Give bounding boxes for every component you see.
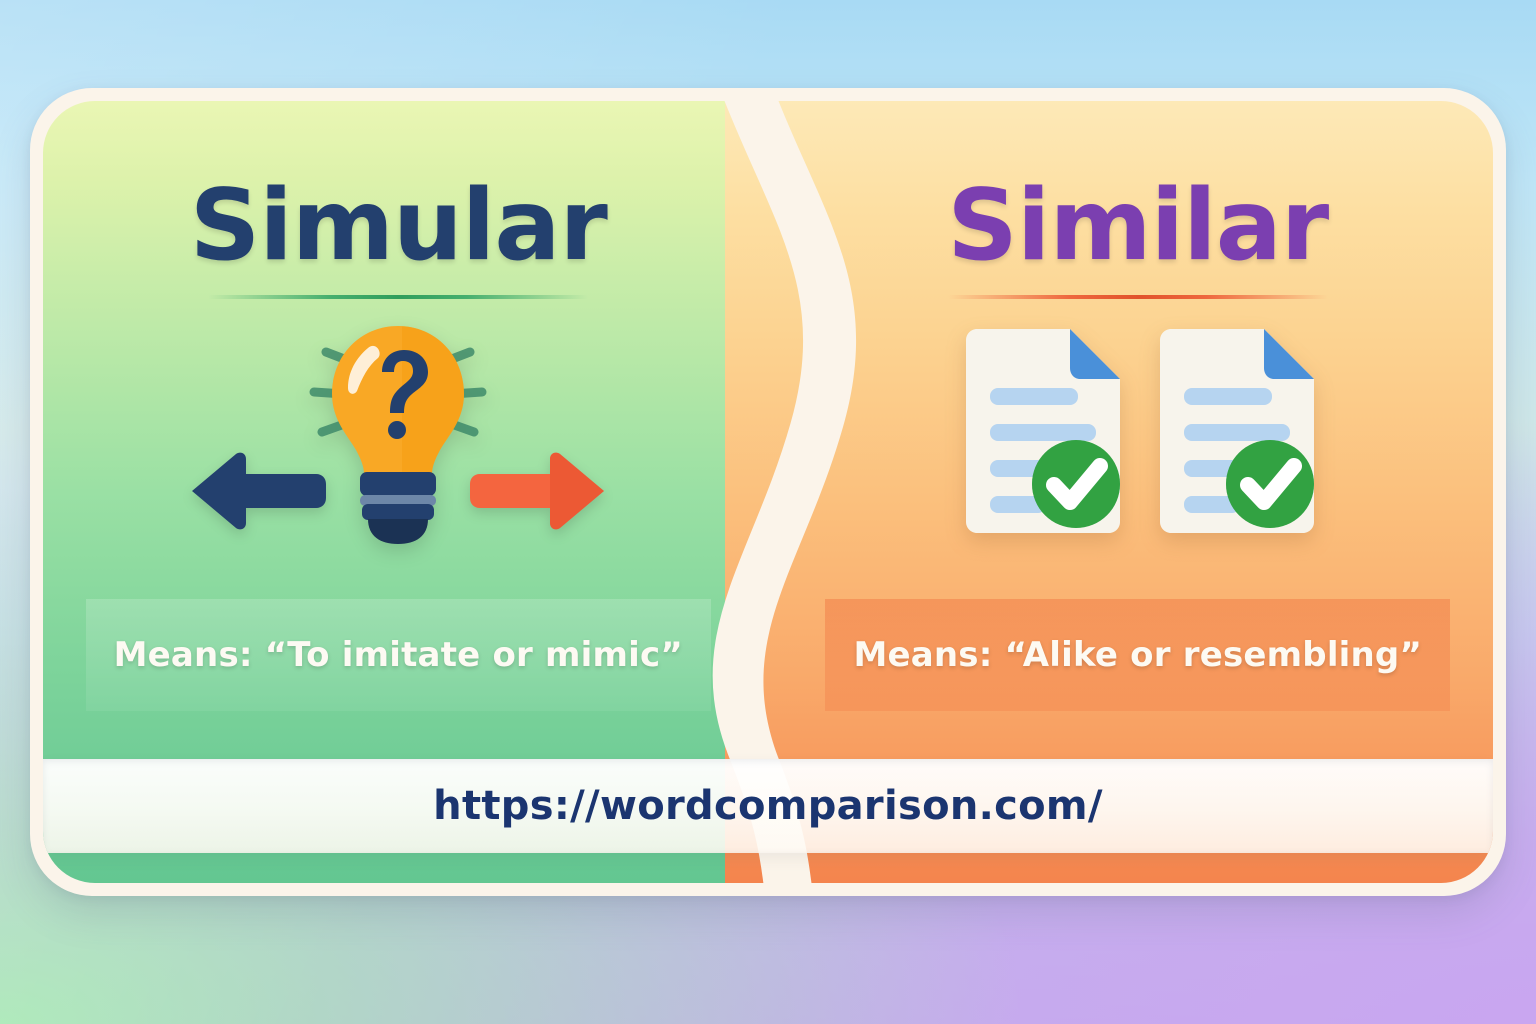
right-word: Similar <box>947 177 1328 275</box>
comparison-graphic: Simular <box>0 0 1536 1024</box>
right-caption-band: Means: “Alike or resembling” <box>783 599 1494 711</box>
document-check-icon <box>952 326 1130 544</box>
left-caption: Means: “To imitate or mimic” <box>114 635 683 675</box>
left-divider-rule <box>208 295 588 299</box>
arrow-right-icon <box>468 448 608 534</box>
right-illustration <box>783 315 1494 555</box>
comparison-card: Simular <box>30 88 1506 896</box>
website-url[interactable]: https://wordcomparison.com/ <box>433 783 1103 829</box>
left-caption-band: Means: “To imitate or mimic” <box>43 599 754 711</box>
left-illustration <box>43 315 754 555</box>
left-word: Simular <box>190 177 607 275</box>
footer-url-bar: https://wordcomparison.com/ <box>43 759 1493 853</box>
right-divider-rule <box>948 295 1328 299</box>
document-check-icon <box>1146 326 1324 544</box>
right-caption: Means: “Alike or resembling” <box>853 635 1422 675</box>
card-inner: Simular <box>43 101 1493 883</box>
